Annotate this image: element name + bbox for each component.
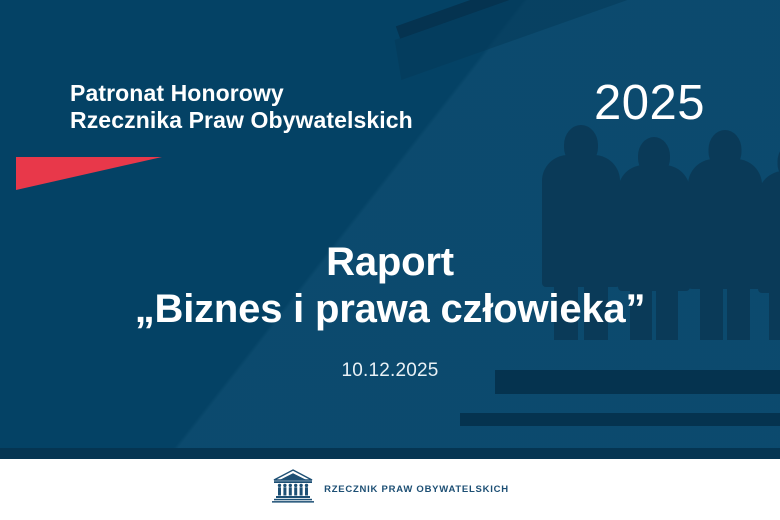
- horizontal-bar-lower-decor: [460, 413, 780, 426]
- rpo-temple-logo-icon: [271, 469, 315, 510]
- rpo-logo-lockup: RZECZNIK PRAW OBYWATELSKICH: [271, 469, 509, 510]
- slide-canvas: Patronat Honorowy Rzecznika Praw Obywate…: [0, 0, 780, 520]
- rpo-logo-text: RZECZNIK PRAW OBYWATELSKICH: [324, 484, 509, 495]
- patronage-header: Patronat Honorowy Rzecznika Praw Obywate…: [70, 80, 413, 134]
- page-title-line2: „Biznes i prawa człowieka”: [0, 286, 780, 333]
- patronage-header-line1: Patronat Honorowy: [70, 80, 413, 107]
- footer-bar: RZECZNIK PRAW OBYWATELSKICH: [0, 459, 780, 520]
- horizontal-bar-base-decor: [0, 448, 780, 459]
- page-title: Raport „Biznes i prawa człowieka”: [0, 239, 780, 333]
- patronage-header-line2: Rzecznika Praw Obywatelskich: [70, 107, 413, 134]
- page-title-line1: Raport: [0, 239, 780, 286]
- year-label: 2025: [594, 79, 705, 128]
- event-date: 10.12.2025: [0, 360, 780, 382]
- slide-background: Patronat Honorowy Rzecznika Praw Obywate…: [0, 0, 780, 459]
- red-pennant-decor: [16, 157, 162, 190]
